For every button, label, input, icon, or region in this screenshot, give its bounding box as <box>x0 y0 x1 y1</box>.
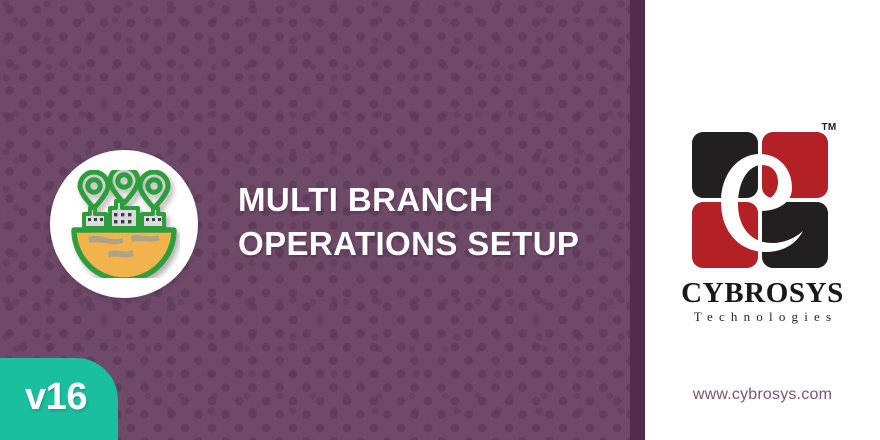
brand-name: CYBROSYS <box>645 277 880 310</box>
brand-logo-wrapper: TM <box>645 118 880 268</box>
brand-website[interactable]: www.cybrosys.com <box>645 386 880 404</box>
module-title-line-2: OPERATIONS SETUP <box>238 222 618 266</box>
brand-subtitle: Technologies <box>645 309 880 325</box>
product-banner: MULTI BRANCH OPERATIONS SETUP v16 <box>0 0 880 440</box>
version-badge-label: v16 <box>25 376 93 423</box>
cybrosys-logo: TM <box>688 118 838 268</box>
module-icon-circle <box>50 150 198 298</box>
cybrosys-logo-mark <box>688 118 838 268</box>
module-title-line-1: MULTI BRANCH <box>238 178 618 222</box>
panel-divider <box>630 0 645 440</box>
module-title: MULTI BRANCH OPERATIONS SETUP <box>238 178 618 266</box>
trademark-icon: TM <box>821 122 836 133</box>
right-brand-panel: TM CYBROSYS Technologies www.cybrosys.co… <box>645 0 880 440</box>
version-badge: v16 <box>0 358 118 440</box>
multi-branch-globe-icon <box>68 170 180 278</box>
left-purple-panel: MULTI BRANCH OPERATIONS SETUP v16 <box>0 0 630 440</box>
